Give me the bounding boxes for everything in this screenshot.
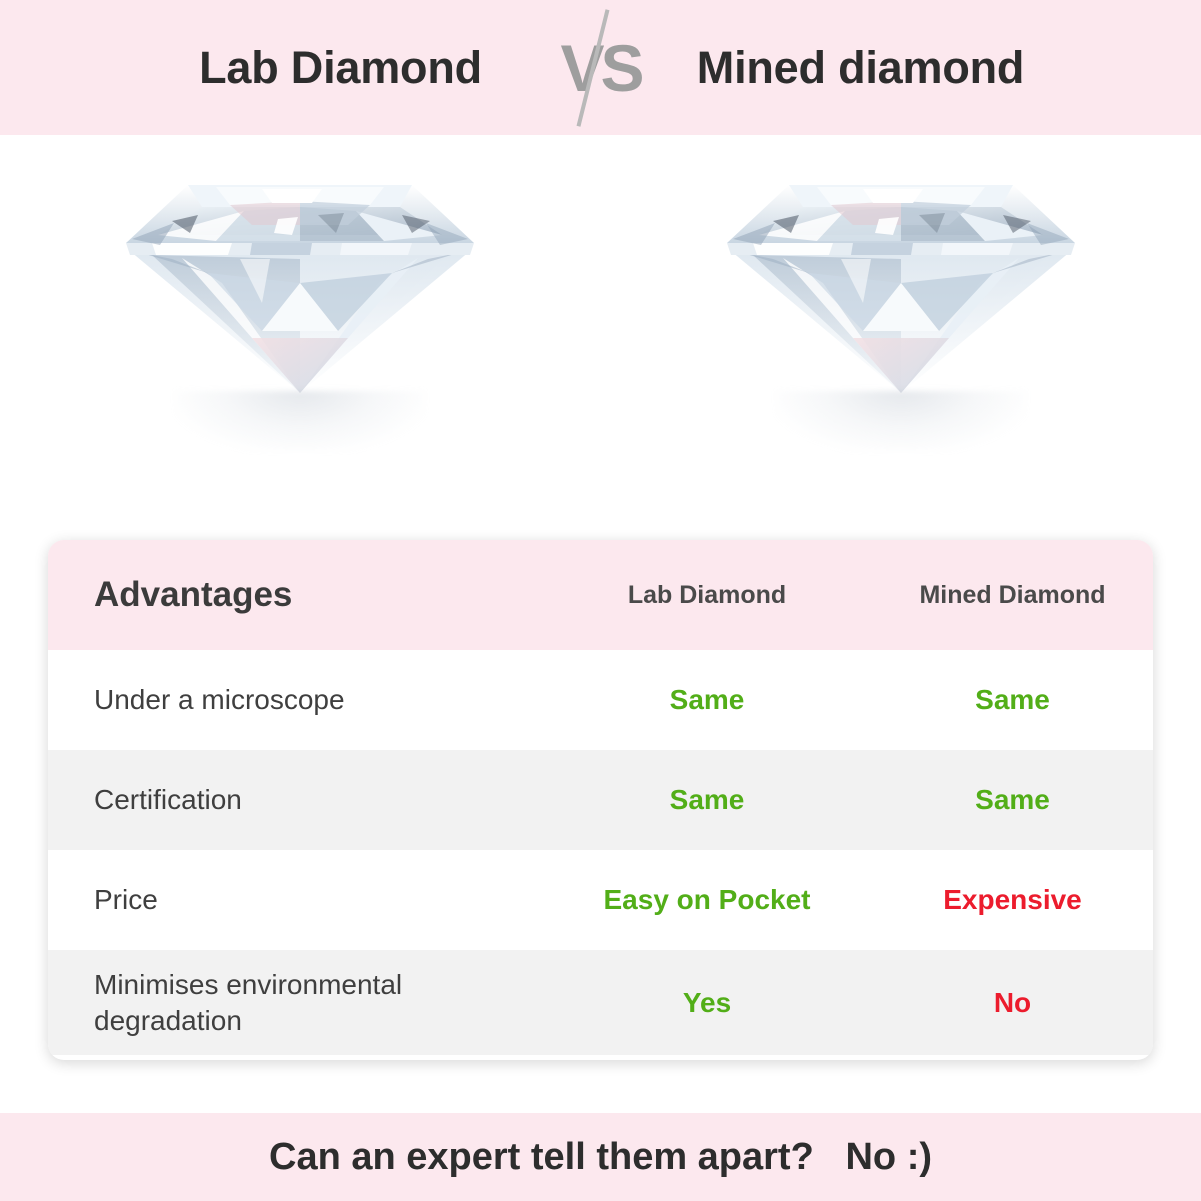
mined-diamond-image	[713, 163, 1089, 413]
row-lab-cell: Same	[542, 650, 872, 750]
row-feature-label: Certification	[94, 782, 242, 818]
table-header-mined: Mined Diamond	[919, 581, 1105, 610]
row-lab-cell: Easy on Pocket	[542, 850, 872, 950]
table-header-advantages: Advantages	[94, 575, 292, 615]
row-mined-value: No	[994, 987, 1031, 1019]
row-lab-cell: Same	[542, 750, 872, 850]
table-header-cell-feature: Advantages	[48, 540, 542, 650]
row-feature-cell: Certification	[48, 750, 542, 850]
header-band: Lab Diamond VS Mined diamond	[0, 0, 1201, 135]
row-feature-cell: Under a microscope	[48, 650, 542, 750]
mined-diamond-reflection	[776, 391, 1026, 451]
row-mined-cell: Expensive	[872, 850, 1153, 950]
row-lab-cell: Yes	[542, 950, 872, 1055]
table-row: Under a microscope Same Same	[48, 650, 1153, 750]
row-feature-cell: Price	[48, 850, 542, 950]
table-header-cell-mined: Mined Diamond	[872, 540, 1153, 650]
row-lab-value: Same	[670, 784, 745, 816]
row-mined-cell: Same	[872, 750, 1153, 850]
table-row: Price Easy on Pocket Expensive	[48, 850, 1153, 950]
infographic-page: Lab Diamond VS Mined diamond	[0, 0, 1201, 1201]
versus-badge: VS	[541, 0, 661, 135]
comparison-table: Advantages Lab Diamond Mined Diamond Und…	[48, 540, 1153, 1060]
table-header-lab: Lab Diamond	[628, 581, 786, 610]
footer-question: Can an expert tell them apart? No :)	[269, 1136, 932, 1179]
diamond-stage	[0, 135, 1201, 535]
diamond-cell-lab	[0, 135, 601, 535]
row-mined-cell: Same	[872, 650, 1153, 750]
row-feature-label: Minimises environmental degradation	[94, 967, 542, 1039]
diamond-cell-mined	[601, 135, 1201, 535]
row-feature-label: Price	[94, 882, 158, 918]
row-mined-cell: No	[872, 950, 1153, 1055]
header-title-mined: Mined diamond	[661, 42, 1061, 94]
row-mined-value: Same	[975, 684, 1050, 716]
footer-band: Can an expert tell them apart? No :)	[0, 1113, 1201, 1201]
row-lab-value: Yes	[683, 987, 731, 1019]
row-feature-label: Under a microscope	[94, 682, 345, 718]
row-lab-value: Easy on Pocket	[604, 884, 811, 916]
row-mined-value: Same	[975, 784, 1050, 816]
table-row: Minimises environmental degradation Yes …	[48, 950, 1153, 1055]
table-row: Certification Same Same	[48, 750, 1153, 850]
row-feature-cell: Minimises environmental degradation	[48, 950, 542, 1055]
table-header-cell-lab: Lab Diamond	[542, 540, 872, 650]
header-title-lab: Lab Diamond	[141, 42, 541, 94]
lab-diamond-reflection	[175, 391, 425, 451]
row-mined-value: Expensive	[943, 884, 1082, 916]
table-header-row: Advantages Lab Diamond Mined Diamond	[48, 540, 1153, 650]
lab-diamond-image	[112, 163, 488, 413]
row-lab-value: Same	[670, 684, 745, 716]
